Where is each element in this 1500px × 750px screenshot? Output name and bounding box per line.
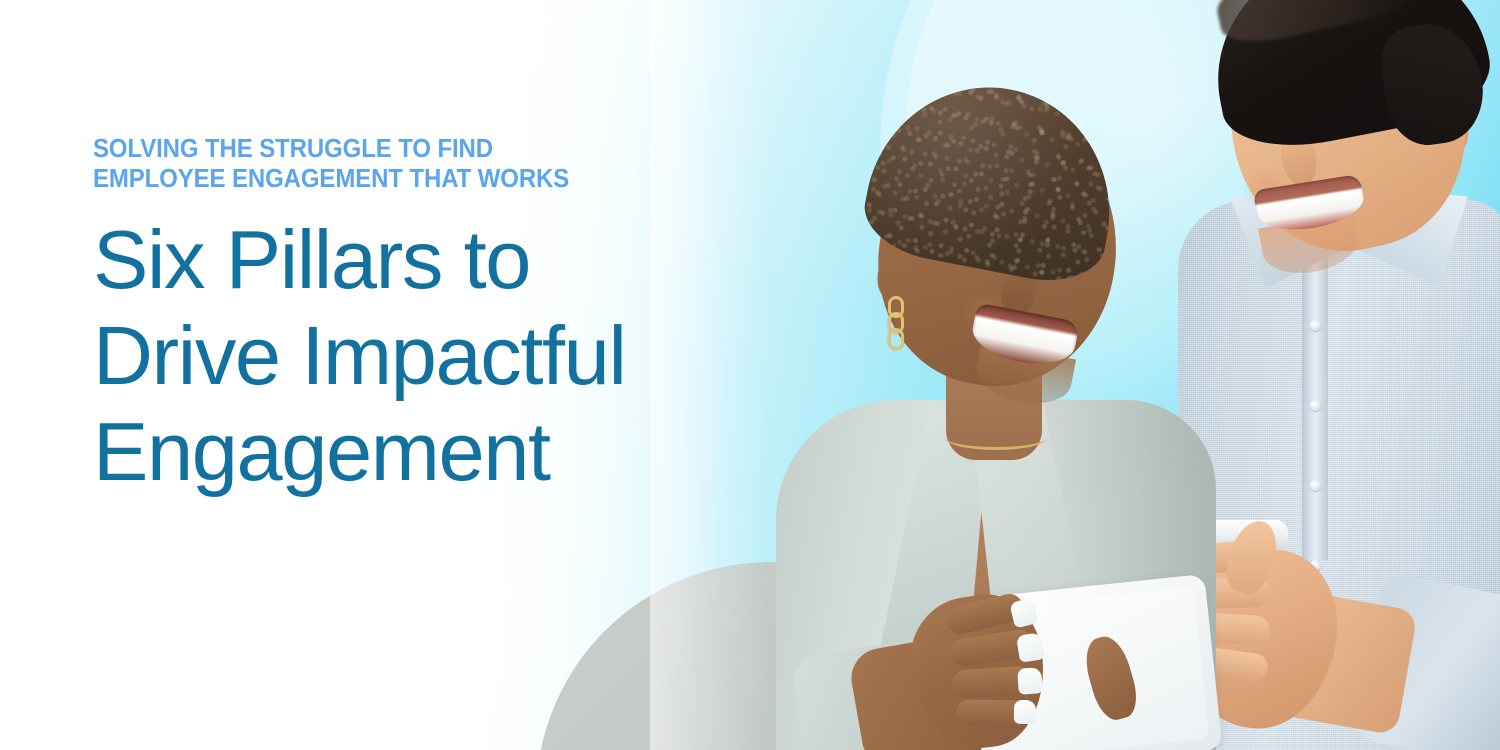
page-title: Six Pillars to Drive Impactful Engagemen… (93, 212, 793, 500)
headline-block: SOLVING THE STRUGGLE TO FIND EMPLOYEE EN… (93, 134, 793, 500)
man-shirt-button (1310, 400, 1321, 411)
woman-fingernail (1016, 632, 1045, 663)
woman-necklace (944, 424, 1048, 450)
man-shirt-button (1310, 320, 1321, 331)
man-shirt-button (1310, 480, 1321, 491)
woman-fingernail (1014, 700, 1036, 724)
person-woman-with-tablet (760, 0, 1230, 750)
woman-fingernail (1017, 667, 1043, 695)
woman-earring (888, 296, 904, 360)
hero-banner: SOLVING THE STRUGGLE TO FIND EMPLOYEE EN… (0, 0, 1500, 750)
eyebrow-text: SOLVING THE STRUGGLE TO FIND EMPLOYEE EN… (93, 134, 751, 194)
